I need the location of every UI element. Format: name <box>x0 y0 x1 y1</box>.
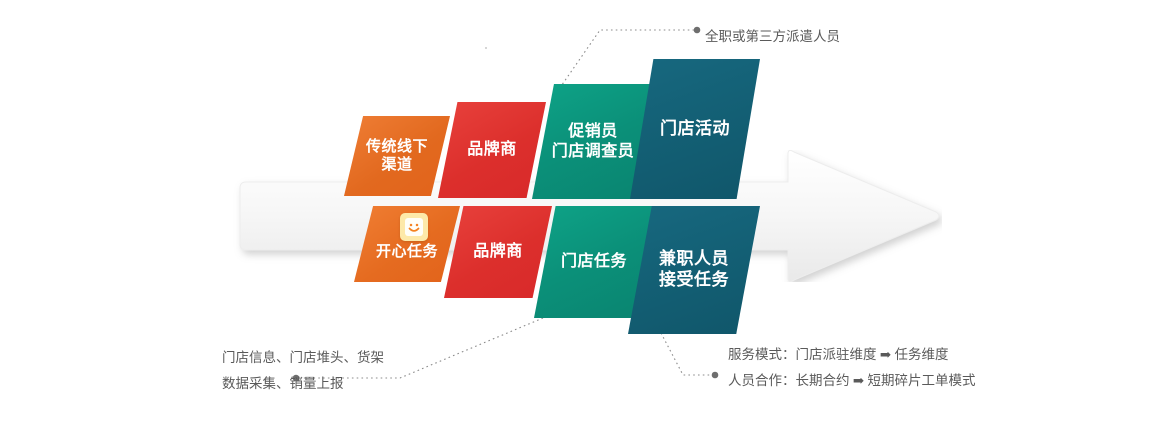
node-label-line1: 门店活动 <box>660 119 730 140</box>
node-label-line1: 传统线下 <box>366 138 428 156</box>
node-label-line2: 接受任务 <box>659 270 729 291</box>
annotation-bottom-right: 服务模式：门店派驻维度 ➡ 任务维度 人员合作：长期合约 ➡ 短期碎片工单模式 <box>728 342 976 393</box>
node-label-line1: 品牌商 <box>467 140 517 160</box>
annotation-line: 数据采集、销量上报 <box>222 371 384 397</box>
node-label-line2: 渠道 <box>381 156 412 174</box>
leader-dot-bottom-right <box>712 372 719 379</box>
diagram-canvas: 传统线下 渠道 品牌商 促销员 门店调查员 门店活动 开心任务 品牌商 门店任务… <box>0 0 1150 430</box>
node-label-line1: 品牌商 <box>473 242 523 262</box>
annotation-line: 人员合作：长期合约 ➡ 短期碎片工单模式 <box>728 368 976 394</box>
node-label-line1: 开心任务 <box>376 243 438 261</box>
node-label-line1: 门店任务 <box>561 252 627 272</box>
leader-dot-top-right <box>694 27 701 34</box>
node-label-line1: 促销员 <box>568 122 618 142</box>
annotation-bottom-left: 门店信息、门店堆头、货架 数据采集、销量上报 <box>222 345 384 396</box>
annotation-line: 全职或第三方派遣人员 <box>705 24 840 50</box>
leader-line-bottom-right <box>661 333 712 375</box>
smiley-face-icon <box>400 213 428 241</box>
annotation-line: 服务模式：门店派驻维度 ➡ 任务维度 <box>728 342 976 368</box>
decorative-speck <box>485 47 487 49</box>
annotation-top-right: 全职或第三方派遣人员 <box>705 24 840 50</box>
node-label-line2: 门店调查员 <box>552 142 635 162</box>
node-label-line1: 兼职人员 <box>659 249 729 270</box>
annotation-line: 门店信息、门店堆头、货架 <box>222 345 384 371</box>
